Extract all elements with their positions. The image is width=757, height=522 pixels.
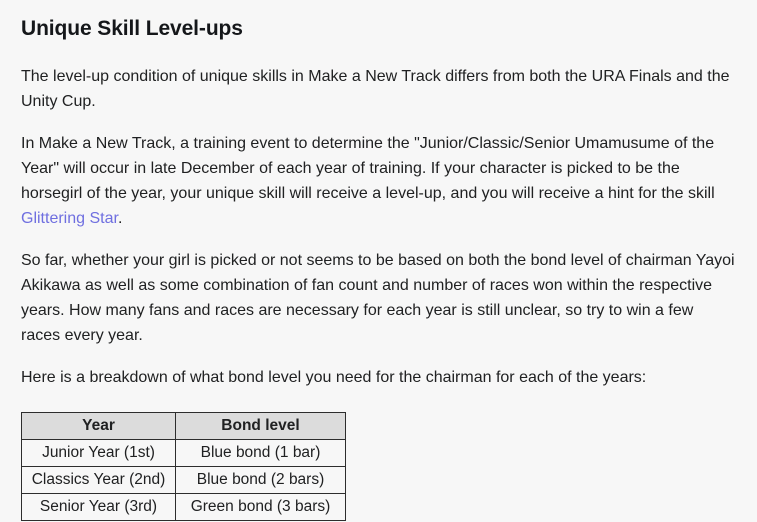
paragraph-text: Here is a breakdown of what bond level y… xyxy=(21,369,646,386)
cell-year: Classics Year (2nd) xyxy=(22,467,176,494)
cell-year: Senior Year (3rd) xyxy=(22,494,176,521)
bond-table-container: Year Bond level Junior Year (1st) Blue b… xyxy=(21,390,736,521)
column-header-bond-level: Bond level xyxy=(176,413,346,440)
paragraph-bond-requirements: So far, whether your girl is picked or n… xyxy=(21,231,736,348)
column-header-year: Year xyxy=(22,413,176,440)
bond-level-table: Year Bond level Junior Year (1st) Blue b… xyxy=(21,412,346,521)
table-row: Classics Year (2nd) Blue bond (2 bars) xyxy=(22,467,346,494)
paragraph-training-event: In Make a New Track, a training event to… xyxy=(21,114,736,231)
paragraph-text-tail: . xyxy=(118,210,122,227)
cell-bond-level: Green bond (3 bars) xyxy=(176,494,346,521)
paragraph-table-lead-in: Here is a breakdown of what bond level y… xyxy=(21,348,736,390)
glittering-star-link[interactable]: Glittering Star xyxy=(21,210,118,227)
paragraph-text: In Make a New Track, a training event to… xyxy=(21,135,715,202)
paragraph-text: So far, whether your girl is picked or n… xyxy=(21,252,735,344)
article-page: Unique Skill Level-ups The level-up cond… xyxy=(0,0,757,522)
table-header-row: Year Bond level xyxy=(22,413,346,440)
cell-bond-level: Blue bond (2 bars) xyxy=(176,467,346,494)
paragraph-text: The level-up condition of unique skills … xyxy=(21,68,730,110)
cell-bond-level: Blue bond (1 bar) xyxy=(176,440,346,467)
page-title: Unique Skill Level-ups xyxy=(21,0,736,42)
cell-year: Junior Year (1st) xyxy=(22,440,176,467)
table-row: Junior Year (1st) Blue bond (1 bar) xyxy=(22,440,346,467)
paragraph-intro: The level-up condition of unique skills … xyxy=(21,42,736,114)
table-row: Senior Year (3rd) Green bond (3 bars) xyxy=(22,494,346,521)
